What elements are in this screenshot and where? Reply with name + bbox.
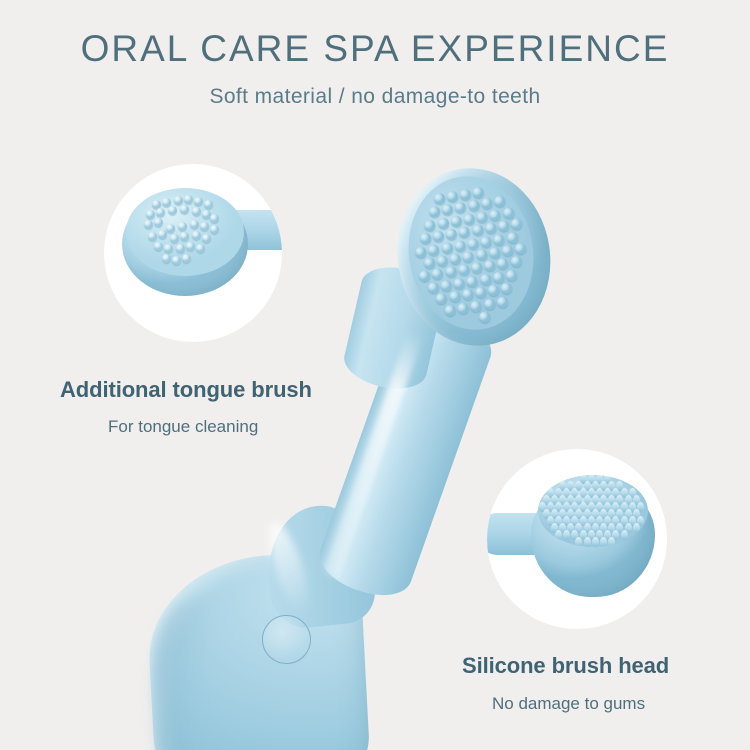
callout-title-silicone-head: Silicone brush head bbox=[462, 653, 669, 679]
tongue-brush-face bbox=[126, 188, 244, 276]
inset-silicone-head bbox=[487, 449, 667, 629]
inset-tongue-brush bbox=[104, 164, 282, 342]
callout-subtitle-tongue-brush: For tongue cleaning bbox=[108, 417, 258, 437]
brush-head-pad bbox=[398, 167, 545, 339]
callout-subtitle-silicone-head: No damage to gums bbox=[492, 694, 645, 714]
page-subtitle: Soft material / no damage-to teeth bbox=[0, 85, 750, 109]
product-illustration bbox=[0, 0, 750, 750]
callout-title-tongue-brush: Additional tongue brush bbox=[60, 377, 312, 403]
silicone-head-face bbox=[538, 475, 648, 547]
bristle-field bbox=[398, 167, 545, 339]
product-marketing-image: ORAL CARE SPA EXPERIENCE Soft material /… bbox=[0, 0, 750, 750]
page-title: ORAL CARE SPA EXPERIENCE bbox=[0, 28, 750, 70]
